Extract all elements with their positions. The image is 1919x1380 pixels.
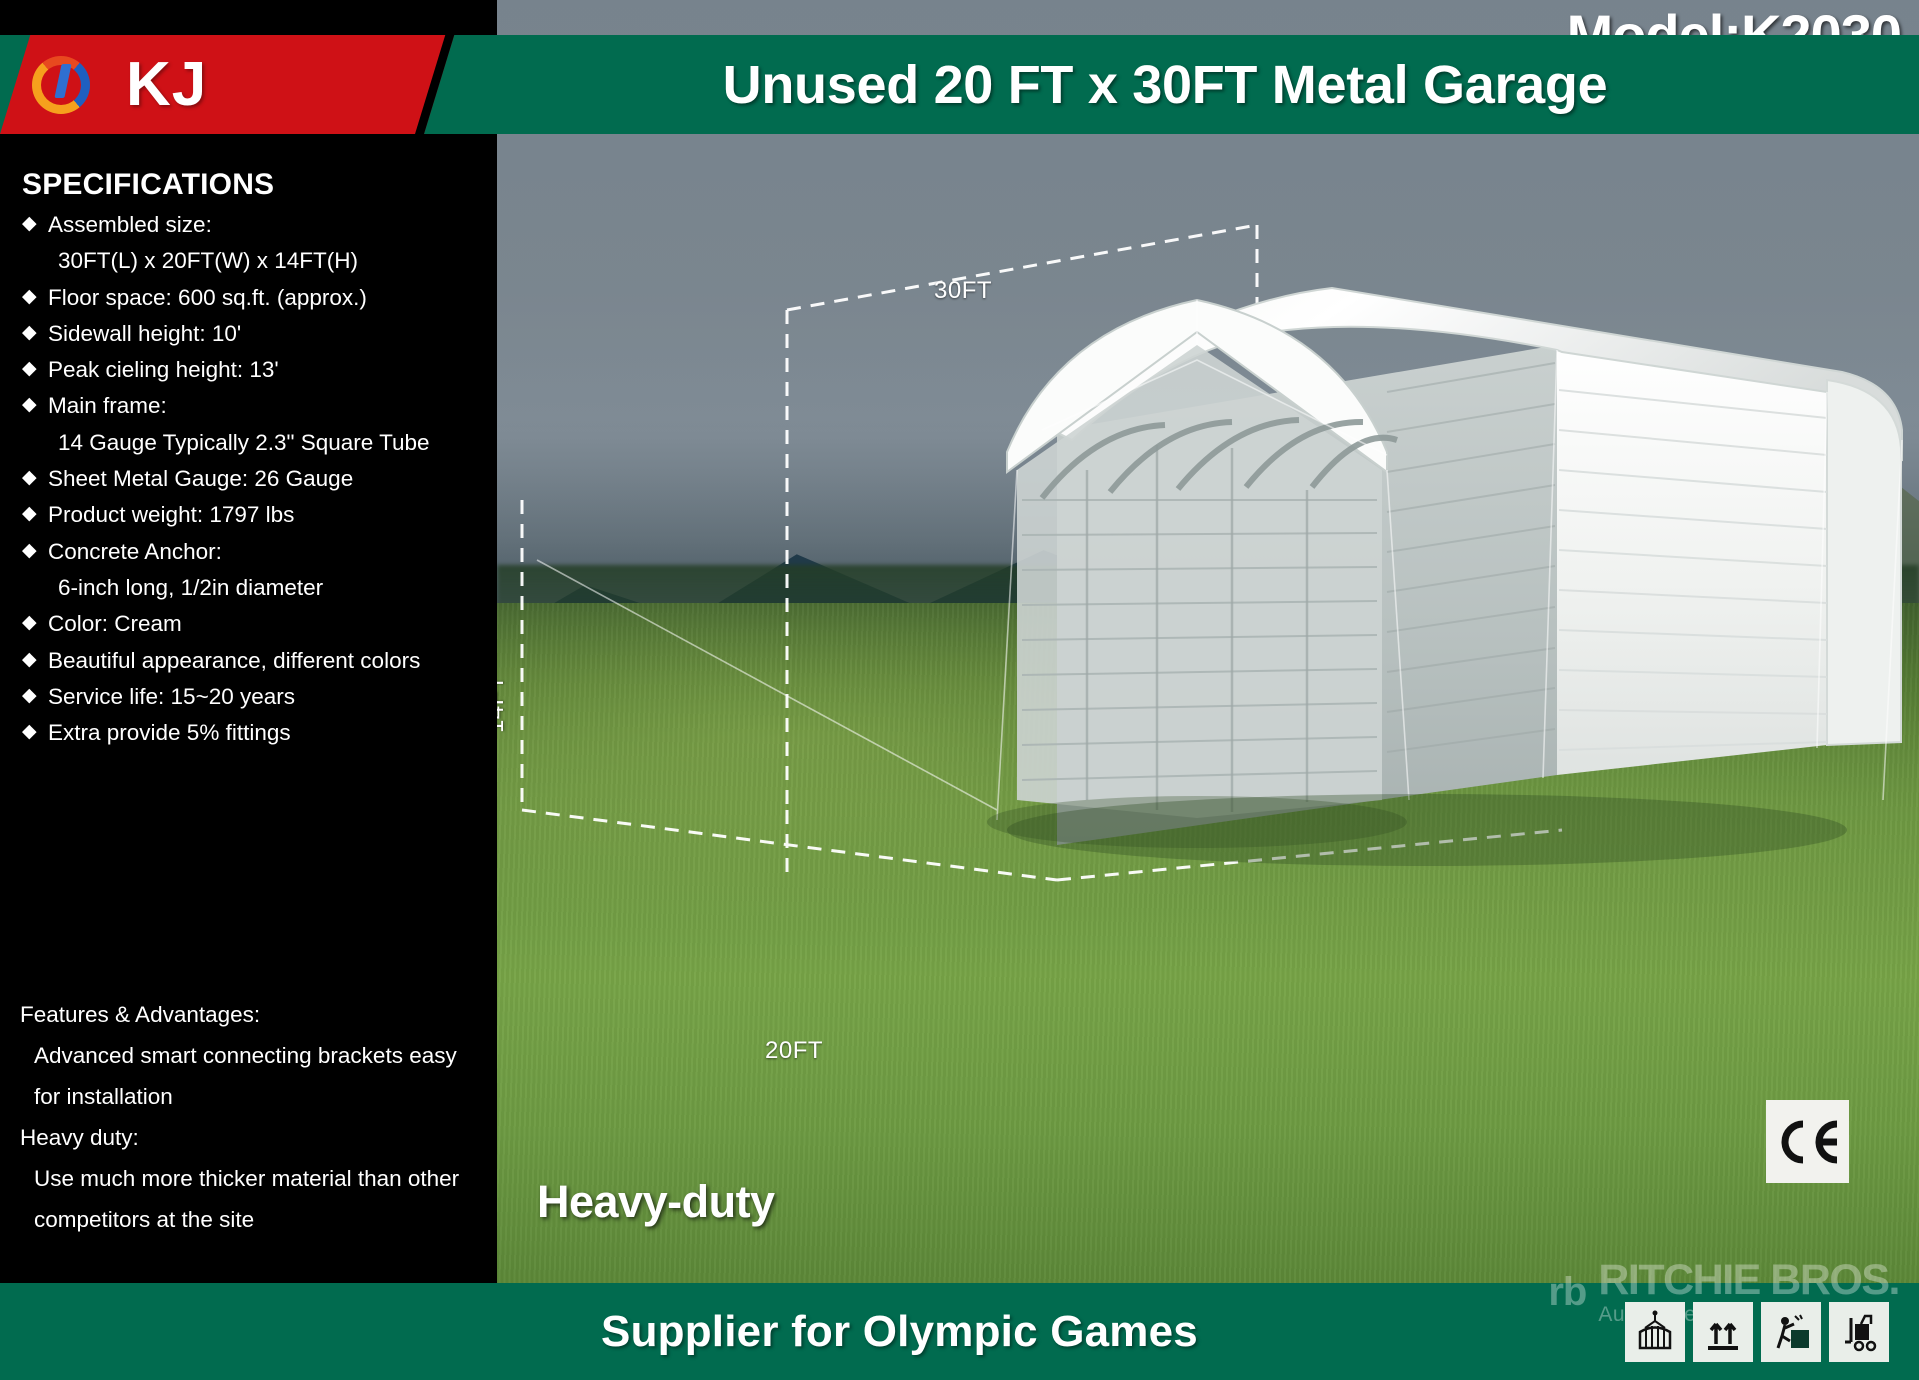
diamond-bullet-icon: ◆ (22, 282, 37, 313)
diamond-bullet-icon: ◆ (22, 463, 37, 494)
spec-item-label: Service life: 15~20 years (48, 684, 295, 709)
spec-item: ◆30FT(L) x 20FT(W) x 14FT(H) (20, 244, 491, 277)
specifications-panel: SPECIFICATIONS ◆Assembled size:◆30FT(L) … (0, 134, 497, 1283)
spec-item-label: Sidewall height: 10' (48, 321, 241, 346)
spec-item-label: Floor space: 600 sq.ft. (approx.) (48, 285, 367, 310)
crane-lift-icon (1625, 1302, 1685, 1362)
features-advantages-block: Features & Advantages: Advanced smart co… (20, 999, 490, 1245)
specifications-list: ◆Assembled size:◆30FT(L) x 20FT(W) x 14F… (0, 208, 497, 749)
spec-item-label: 14 Gauge Typically 2.3" Square Tube (58, 430, 430, 455)
spec-item-label: 30FT(L) x 20FT(W) x 14FT(H) (58, 248, 358, 273)
spec-item: ◆Main frame: (20, 389, 491, 422)
spec-item: ◆Concrete Anchor: (20, 535, 491, 568)
ce-icon (1775, 1117, 1841, 1167)
spec-item: ◆Beautiful appearance, different colors (20, 644, 491, 677)
forklift-icon (1829, 1302, 1889, 1362)
this-side-up-icon (1693, 1302, 1753, 1362)
diamond-bullet-icon: ◆ (22, 717, 37, 748)
spec-item-label: Extra provide 5% fittings (48, 720, 291, 745)
heavy-duty-heading: Heavy duty: (20, 1122, 490, 1154)
spec-item: ◆Service life: 15~20 years (20, 680, 491, 713)
spec-item: ◆Extra provide 5% fittings (20, 716, 491, 749)
spec-item: ◆Sidewall height: 10' (20, 317, 491, 350)
diamond-bullet-icon: ◆ (22, 209, 37, 240)
footer-tagline: Supplier for Olympic Games (601, 1307, 1198, 1357)
diamond-bullet-icon: ◆ (22, 499, 37, 530)
spec-item-label: Concrete Anchor: (48, 539, 222, 564)
diamond-bullet-icon: ◆ (22, 645, 37, 676)
spec-item-label: 6-inch long, 1/2in diameter (58, 575, 323, 600)
page-title: Unused 20 FT x 30FT Metal Garage (430, 35, 1900, 134)
specifications-heading: SPECIFICATIONS (22, 168, 497, 202)
spec-item: ◆6-inch long, 1/2in diameter (20, 571, 491, 604)
spec-item: ◆Sheet Metal Gauge: 26 Gauge (20, 462, 491, 495)
diamond-bullet-icon: ◆ (22, 536, 37, 567)
spec-item: ◆Assembled size: (20, 208, 491, 241)
dimension-label-width: 20FT (765, 1037, 823, 1065)
diamond-bullet-icon: ◆ (22, 354, 37, 385)
heavy-duty-line-1: Use much more thicker material than othe… (20, 1163, 490, 1195)
diamond-bullet-icon: ◆ (22, 681, 37, 712)
spec-item-label: Color: Cream (48, 611, 182, 636)
handle-with-care-icon (1761, 1302, 1821, 1362)
spec-item: ◆Peak cieling height: 13' (20, 353, 491, 386)
features-line-2: for installation (20, 1081, 490, 1113)
kj-circular-logo-icon (32, 56, 90, 114)
spec-item: ◆Color: Cream (20, 607, 491, 640)
spec-item: ◆Product weight: 1797 lbs (20, 498, 491, 531)
brand-logo: KJ (0, 35, 415, 134)
spec-item-label: Assembled size: (48, 212, 212, 237)
product-spec-poster: 30FT 20FT 14FT Model:K2030 Installation … (0, 0, 1919, 1380)
shipping-pictogram-row (1625, 1302, 1889, 1362)
diamond-bullet-icon: ◆ (22, 318, 37, 349)
diamond-bullet-icon: ◆ (22, 608, 37, 639)
spec-item-label: Peak cieling height: 13' (48, 357, 279, 382)
spec-item-label: Beautiful appearance, different colors (48, 648, 420, 673)
features-line-1: Advanced smart connecting brackets easy (20, 1040, 490, 1072)
spec-item: ◆14 Gauge Typically 2.3" Square Tube (20, 426, 491, 459)
brand-name: KJ (126, 49, 207, 120)
heavy-duty-line-2: competitors at the site (20, 1204, 490, 1236)
spec-item-label: Sheet Metal Gauge: 26 Gauge (48, 466, 353, 491)
diamond-bullet-icon: ◆ (22, 390, 37, 421)
product-photo-scene: 30FT 20FT 14FT Model:K2030 Installation … (497, 0, 1919, 1283)
spec-item-label: Main frame: (48, 393, 167, 418)
heavy-duty-tagline: Heavy-duty (537, 1176, 775, 1228)
spec-item: ◆Floor space: 600 sq.ft. (approx.) (20, 281, 491, 314)
features-heading: Features & Advantages: (20, 999, 490, 1031)
ce-mark-badge (1766, 1100, 1849, 1183)
spec-item-label: Product weight: 1797 lbs (48, 502, 294, 527)
dimension-label-height: 14FT (497, 675, 510, 733)
dimension-label-length: 30FT (934, 277, 992, 305)
metal-garage-illustration (497, 0, 1919, 1283)
